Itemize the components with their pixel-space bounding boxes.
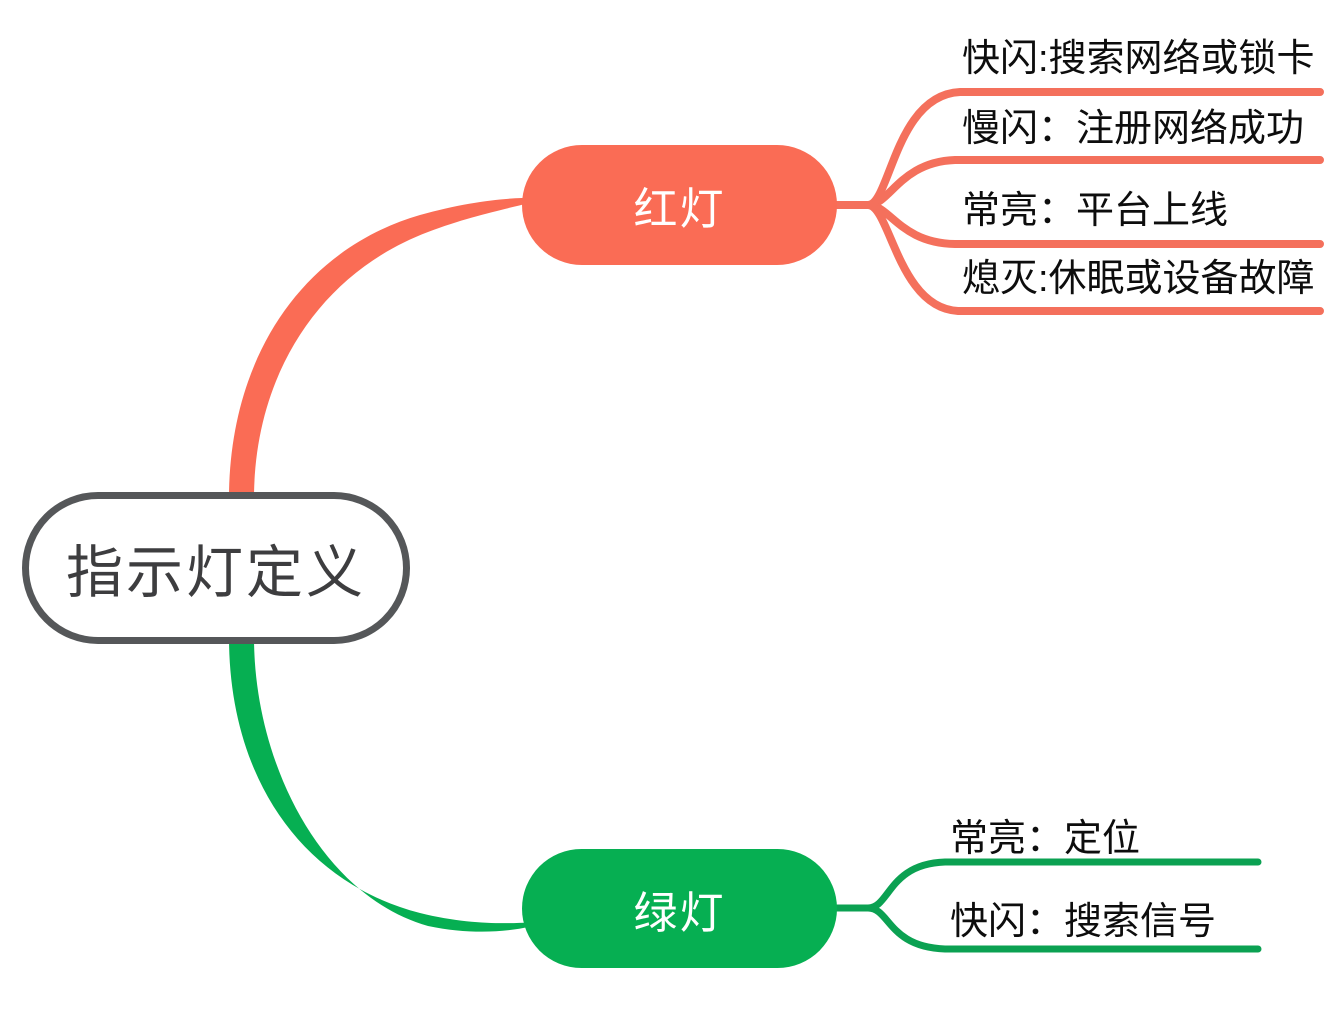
branch-node-green[interactable]: 绿灯 — [522, 849, 837, 968]
leaf-label-red-1[interactable]: 快闪:搜索网络或锁卡 — [962, 40, 1315, 78]
leaf-label-red-4[interactable]: 熄灭:休眠或设备故障 — [962, 260, 1315, 298]
edge-root-to-green — [229, 637, 545, 932]
root-node-label: 指示灯定义 — [66, 527, 366, 609]
mindmap-canvas: 指示灯定义 红灯 绿灯 快闪:搜索网络或锁卡 慢闪：注册网络成功 常亮：平台上线… — [0, 0, 1342, 1021]
root-node[interactable]: 指示灯定义 — [22, 492, 410, 644]
leaf-label-green-2[interactable]: 快闪：搜索信号 — [950, 903, 1216, 941]
branch-node-red-label: 红灯 — [634, 173, 726, 237]
branch-node-red[interactable]: 红灯 — [522, 145, 837, 265]
leaf-label-green-1[interactable]: 常亮：定位 — [950, 820, 1140, 858]
leaf-label-red-3[interactable]: 常亮：平台上线 — [962, 192, 1228, 230]
branch-node-green-label: 绿灯 — [634, 877, 726, 941]
leaf-label-red-2[interactable]: 慢闪：注册网络成功 — [962, 110, 1304, 148]
edge-root-to-red — [229, 198, 545, 499]
